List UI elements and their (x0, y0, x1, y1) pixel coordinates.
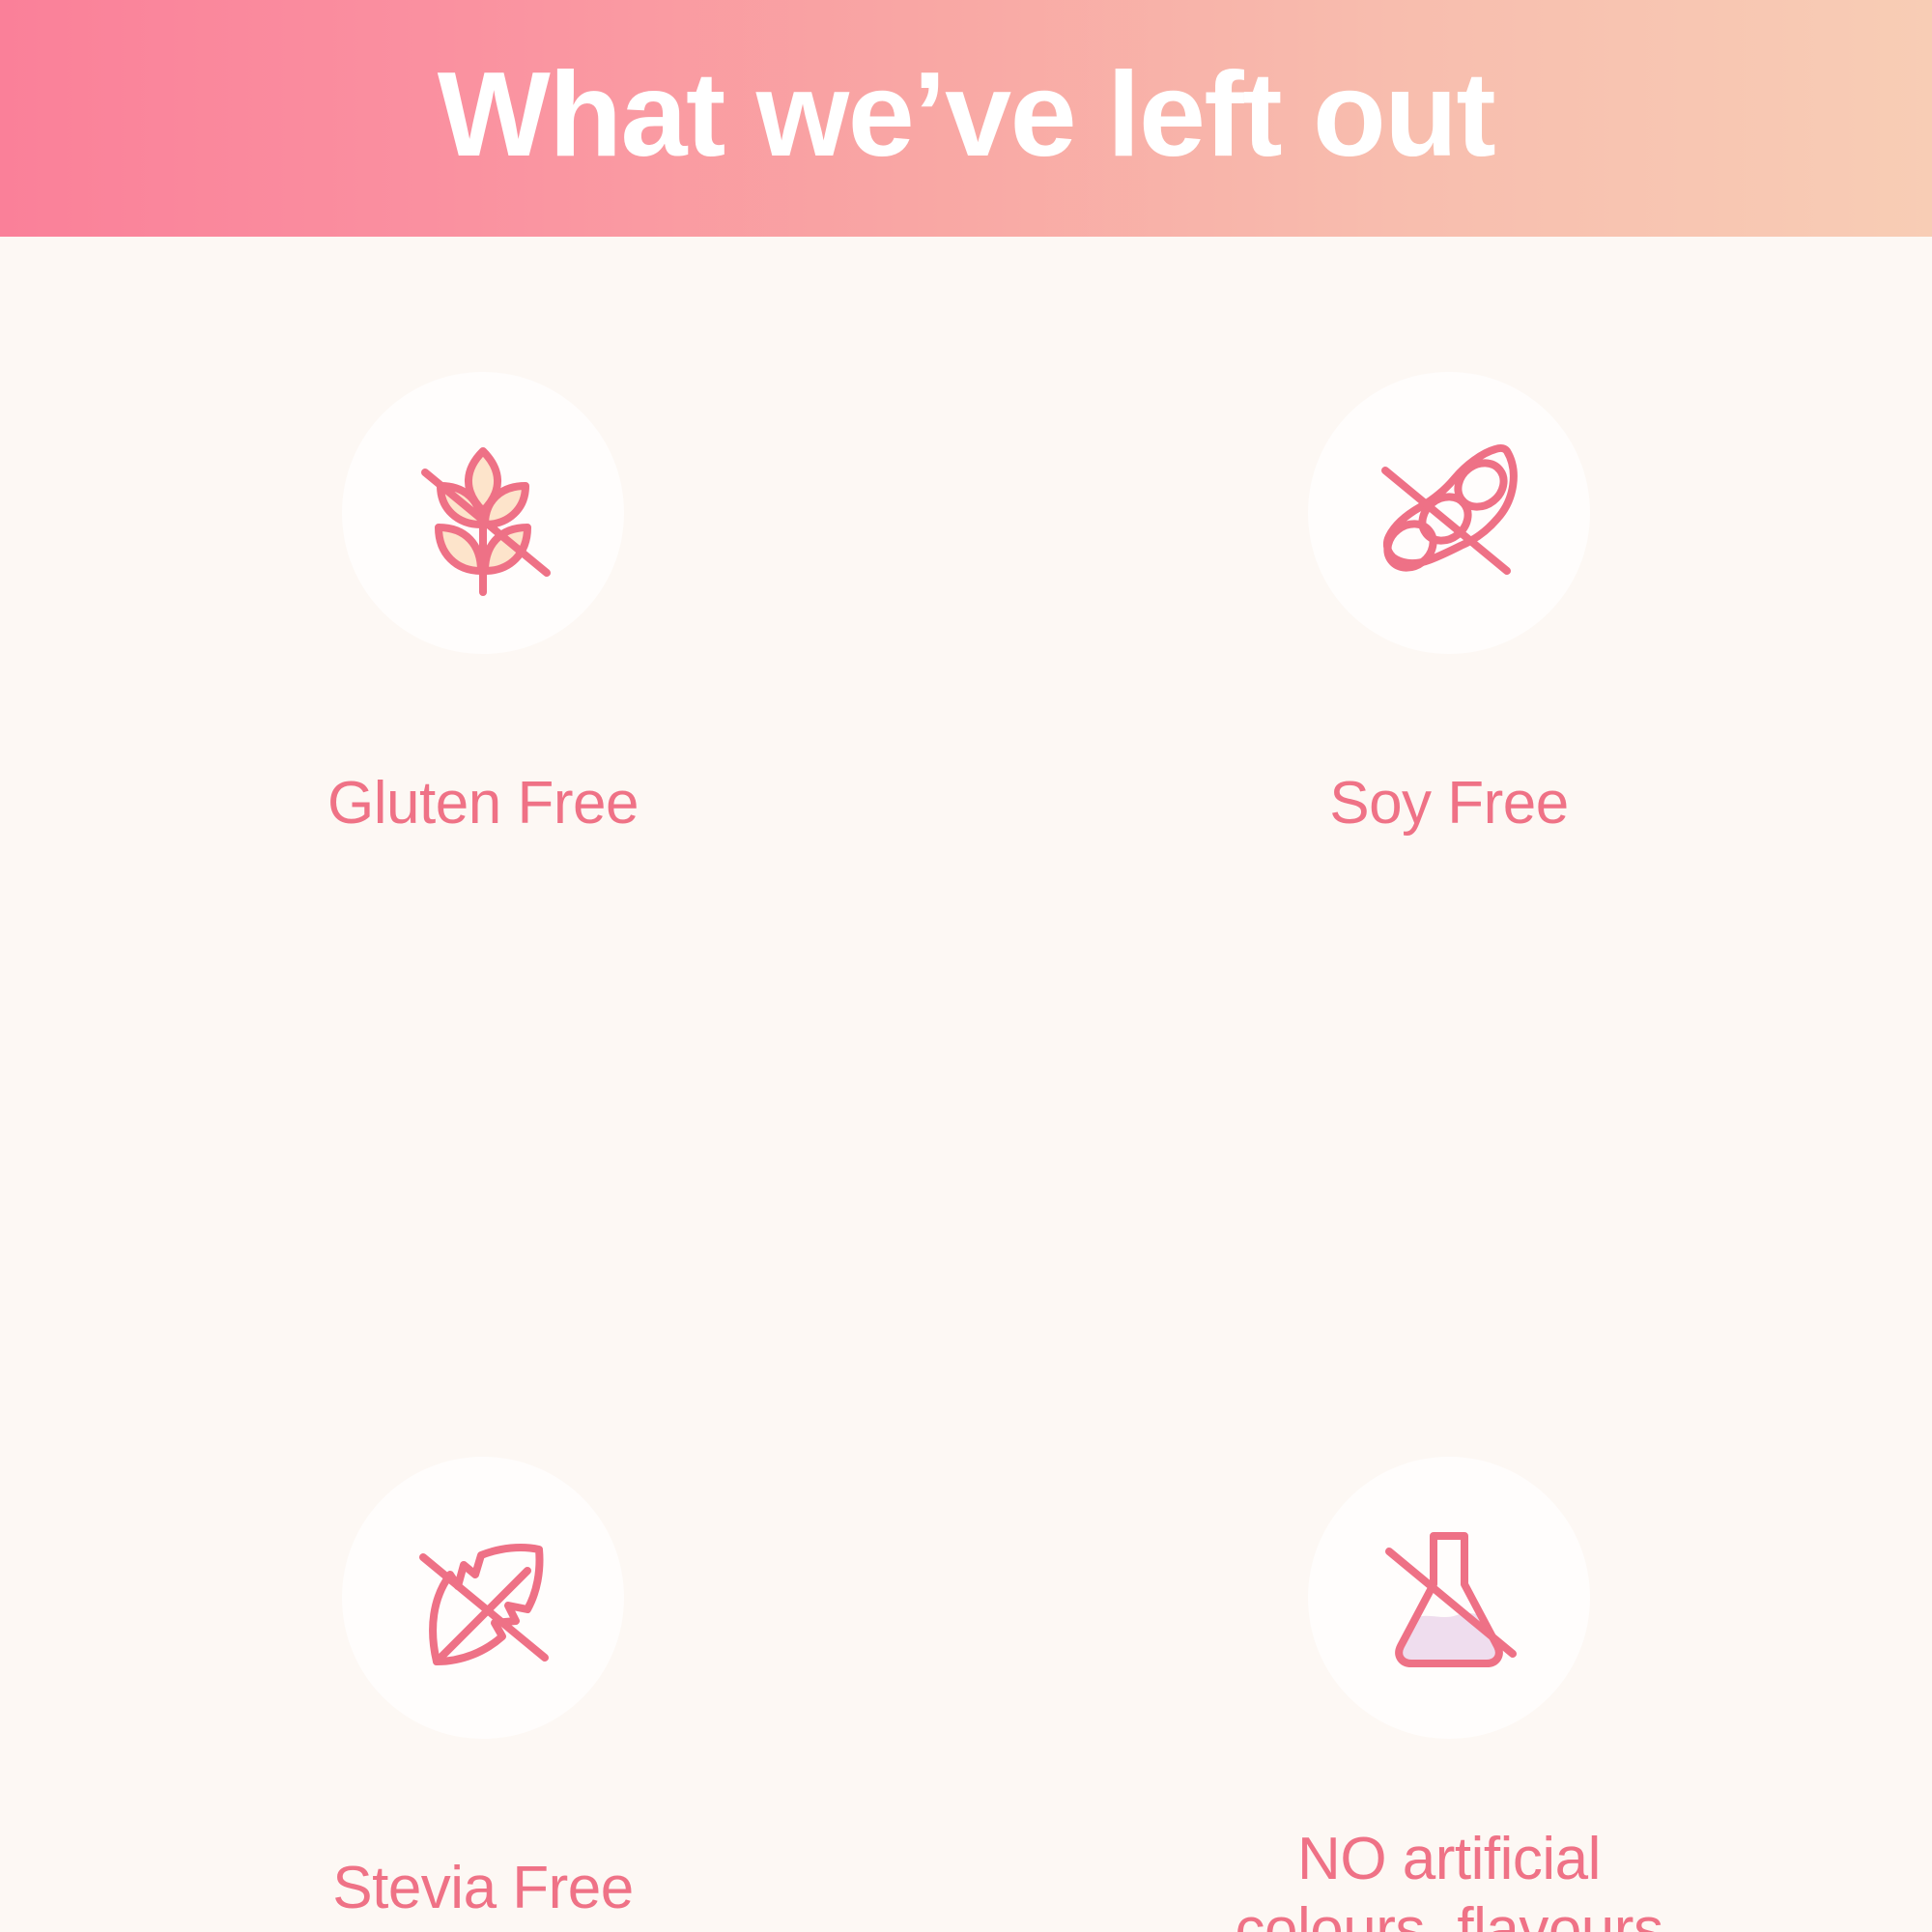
icon-badge-gluten-free (342, 372, 624, 654)
infographic-page: What we’ve left out (0, 0, 1932, 1932)
claim-label-no-artificial: NO artificial colours, flavours or sweet… (1236, 1824, 1663, 1932)
claim-label-soy-free: Soy Free (1329, 768, 1569, 838)
claim-item-gluten-free: Gluten Free (0, 237, 966, 838)
claim-label-line: NO artificial (1236, 1824, 1663, 1894)
page-header: What we’ve left out (0, 0, 1932, 237)
claim-item-soy-free: Soy Free (966, 237, 1932, 838)
lab-flask-crossed-out-icon (1352, 1501, 1546, 1694)
icon-badge-soy-free (1308, 372, 1590, 654)
claim-item-stevia-free: Stevia Free (0, 838, 966, 1932)
claim-item-no-artificial: NO artificial colours, flavours or sweet… (966, 838, 1932, 1932)
icon-badge-stevia-free (342, 1457, 624, 1739)
stevia-leaf-crossed-out-icon (386, 1501, 580, 1694)
icon-badge-no-artificial (1308, 1457, 1590, 1739)
claim-label-line: colours, flavours (1236, 1894, 1663, 1932)
claim-label-stevia-free: Stevia Free (332, 1853, 634, 1923)
claim-label-gluten-free: Gluten Free (327, 768, 639, 838)
claims-grid: Gluten Free (0, 237, 1932, 1932)
wheat-crossed-out-icon (386, 416, 580, 610)
soy-pod-crossed-out-icon (1352, 416, 1546, 610)
page-title: What we’ve left out (438, 55, 1494, 175)
